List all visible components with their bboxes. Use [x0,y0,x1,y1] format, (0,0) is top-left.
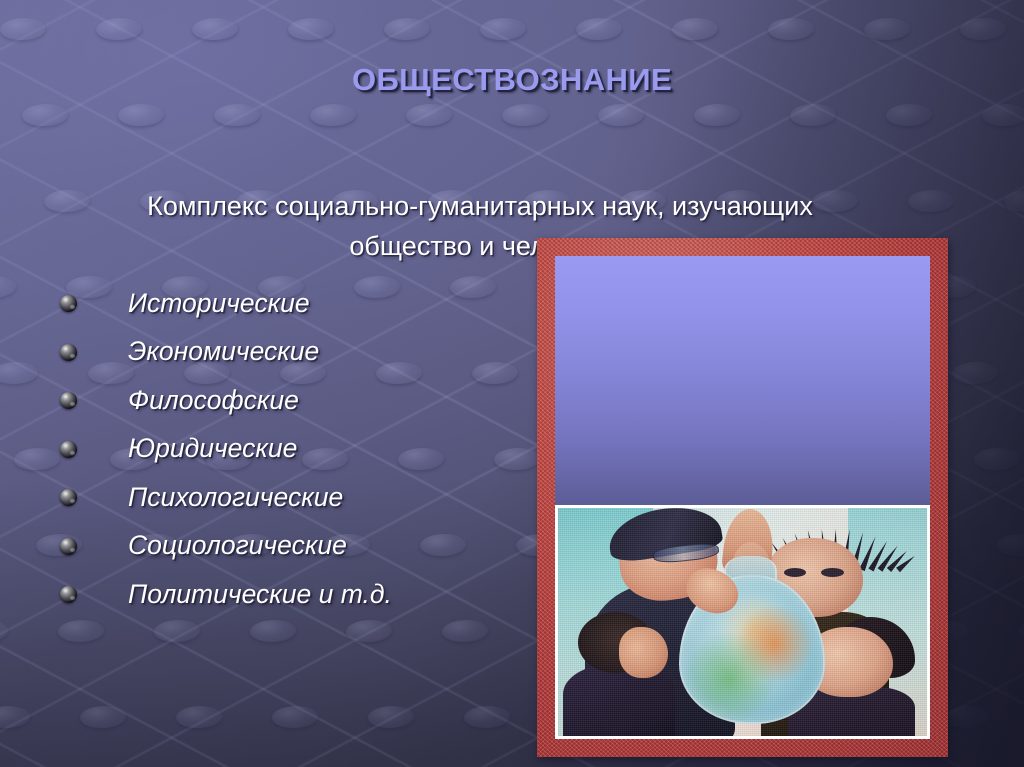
list-item: Юридические [56,425,526,474]
list-item: Социологические [56,522,526,571]
list-item-label: Юридические [128,433,297,464]
blank-gradient-panel [555,256,930,505]
list-item: Политические и т.д. [56,570,526,619]
presentation-slide: ОБЩЕСТВОЗНАНИЕ Комплекс социально-гумани… [0,0,1024,767]
slide-title: ОБЩЕСТВОЗНАНИЕ [0,62,1024,98]
list-item-label: Философские [128,385,299,416]
sphere-bullet-icon [60,489,77,506]
list-item-label: Политические и т.д. [128,579,392,610]
list-item-label: Экономические [128,336,319,367]
list-item-label: Исторические [128,288,310,319]
sphere-bullet-icon [60,344,77,361]
sphere-bullet-icon [60,586,77,603]
sphere-bullet-icon [60,441,77,458]
illustration-people-globe [555,505,930,739]
list-item-label: Социологические [128,530,347,561]
list-item: Психологические [56,473,526,522]
bullet-list: Исторические Экономические Философские Ю… [56,279,526,619]
list-item: Философские [56,376,526,425]
sphere-bullet-icon [60,538,77,555]
picture-frame [537,238,948,757]
list-item-label: Психологические [128,482,343,513]
list-item: Экономические [56,328,526,377]
list-item: Исторические [56,279,526,328]
sphere-bullet-icon [60,392,77,409]
intro-line-1: Комплекс социально-гуманитарных наук, из… [40,186,920,226]
sphere-bullet-icon [60,295,77,312]
picture-inner [555,256,930,739]
illustration-color-tint [555,505,930,739]
